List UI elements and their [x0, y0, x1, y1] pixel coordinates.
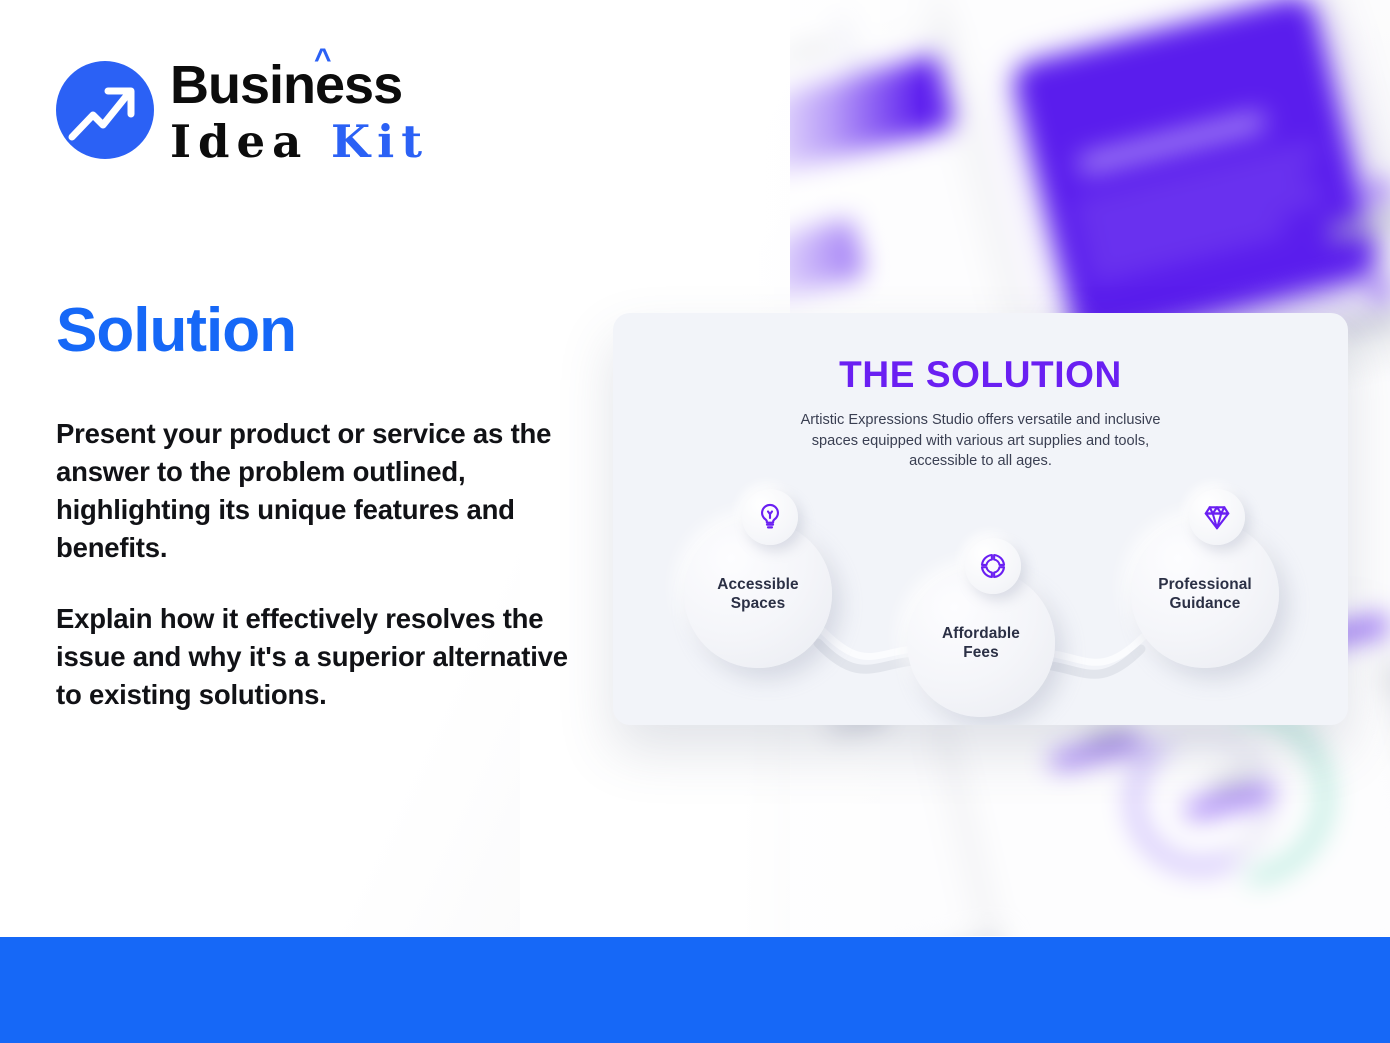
logo-wordmark-line1: Business ^ [170, 58, 429, 112]
feature-label-3-line1: Professional [1158, 576, 1252, 593]
page-title: Solution [56, 295, 296, 366]
brand-logo: Business ^ Idea Kit [56, 56, 429, 164]
logo-wordmark-line2: Idea Kit [170, 119, 429, 164]
logo-business-text: Business [170, 55, 402, 115]
logo-kit-text: Kit [331, 115, 429, 168]
feature-label-3-line2: Guidance [1170, 595, 1241, 612]
diamond-gem-icon [1189, 489, 1245, 545]
feature-label-2-line2: Fees [963, 644, 998, 661]
logo-idea-text: Idea [170, 115, 308, 168]
body-copy: Present your product or service as the a… [56, 415, 596, 714]
body-paragraph-2: Explain how it effectively resolves the … [56, 600, 596, 714]
feature-label-2: Affordable Fees [942, 624, 1020, 662]
solution-card: THE SOLUTION Artistic Expressions Studio… [613, 313, 1348, 725]
feature-label-3: Professional Guidance [1158, 575, 1252, 613]
feature-label-1-line2: Spaces [731, 595, 786, 612]
body-paragraph-1: Present your product or service as the a… [56, 415, 596, 567]
slide-canvas: Business ^ Idea Kit Solution Present you… [0, 0, 1390, 1043]
feature-label-1: Accessible Spaces [717, 575, 798, 613]
footer-bar [0, 937, 1390, 1043]
donut-chart-icon [965, 538, 1021, 594]
logo-accent-caret-icon: ^ [314, 45, 331, 75]
feature-label-2-line1: Affordable [942, 625, 1020, 642]
feature-label-1-line1: Accessible [717, 576, 798, 593]
lightbulb-icon [742, 489, 798, 545]
growth-arrow-icon [56, 61, 154, 159]
